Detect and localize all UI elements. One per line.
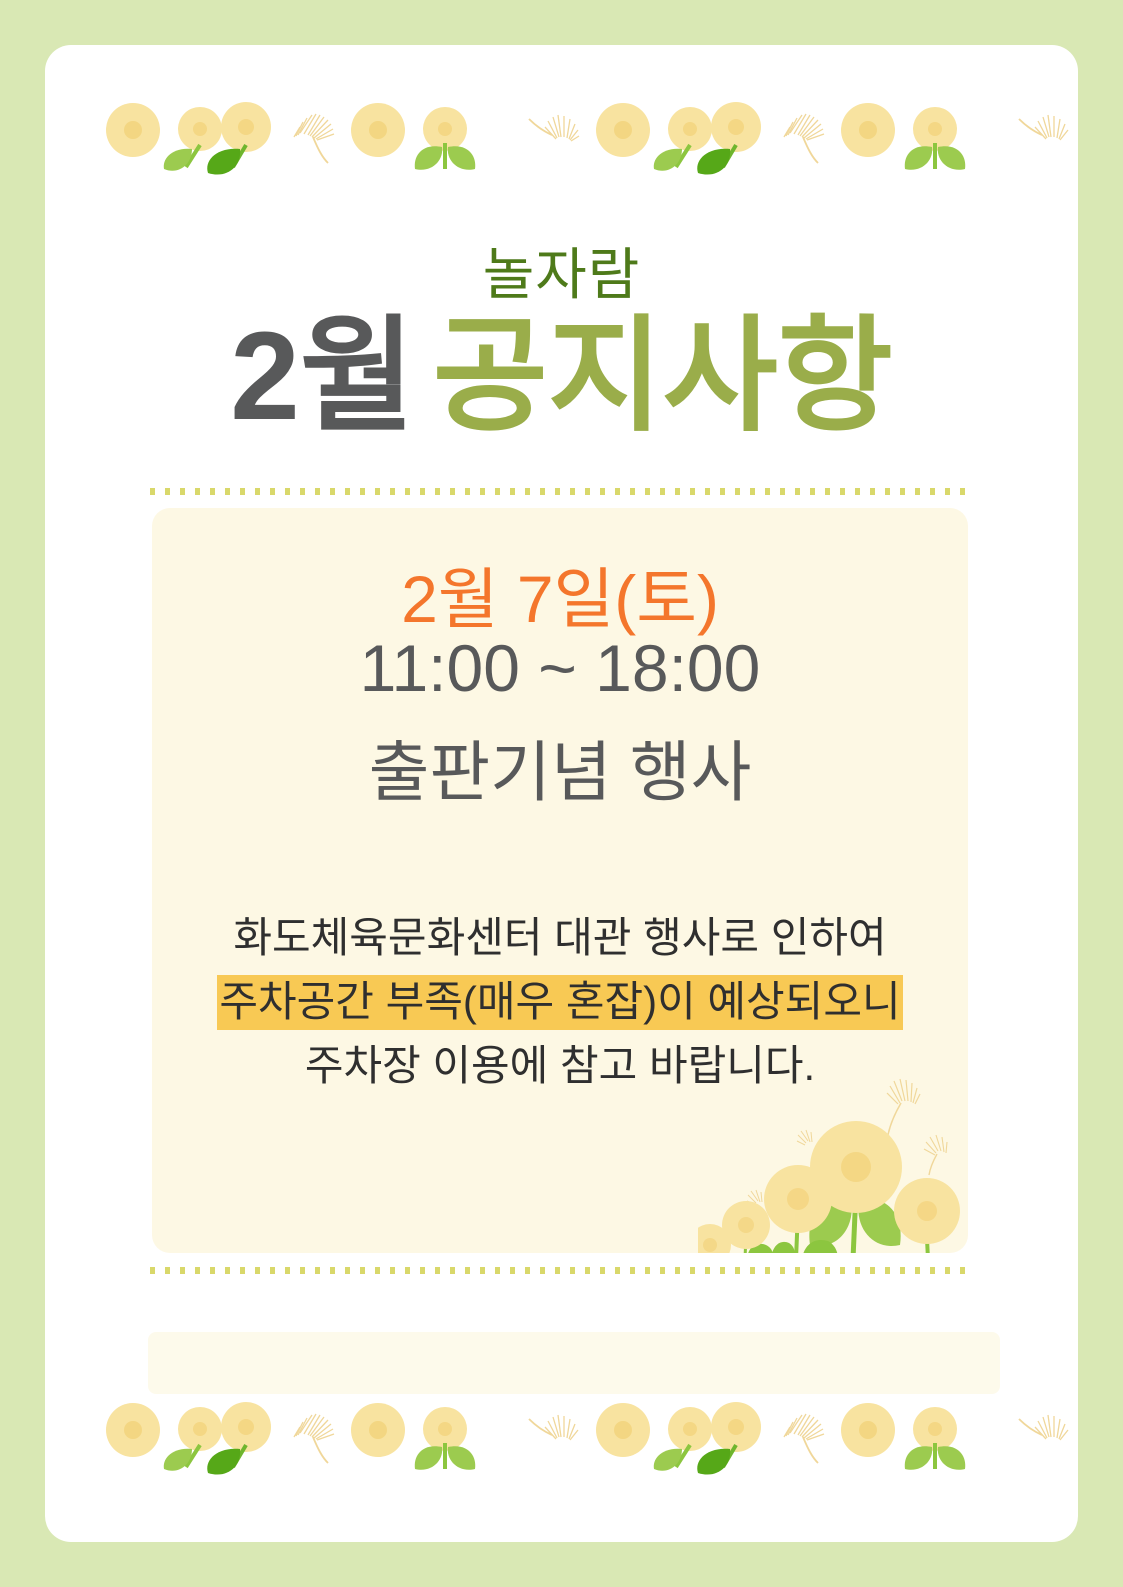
- event-time: 11:00 ~ 18:00: [152, 630, 968, 706]
- dandelion-border-unit-icon: [835, 1387, 1078, 1487]
- notice-highlight: 주차공간 부족(매우 혼잡)이 예상되오니: [217, 975, 902, 1030]
- divider-upper: [150, 488, 970, 495]
- title-notice: 공지사항: [433, 307, 893, 446]
- dandelion-border-unit-icon: [345, 1387, 590, 1487]
- poster-card: 놀자람 2월공지사항 2월 7일(토) 11:00 ~ 18:00 출판기념 행…: [45, 45, 1078, 1542]
- top-dandelion-border: [45, 87, 1078, 187]
- dandelion-border-unit-icon: [835, 87, 1078, 187]
- notice-body: 화도체육문화센터 대관 행사로 인하여 주차공간 부족(매우 혼잡)이 예상되오…: [152, 906, 968, 1097]
- notice-line-1: 화도체육문화센터 대관 행사로 인하여: [152, 906, 968, 970]
- dandelion-border-unit-icon: [345, 87, 590, 187]
- notice-line-3: 주차장 이용에 참고 바랍니다.: [152, 1034, 968, 1098]
- bottom-dandelion-border: [45, 1387, 1078, 1487]
- dandelion-border-unit-icon: [100, 87, 345, 187]
- content-panel: 2월 7일(토) 11:00 ~ 18:00 출판기념 행사 화도체육문화센터 …: [152, 508, 968, 1253]
- dandelion-border-unit-icon: [590, 1387, 835, 1487]
- footer-box: [148, 1332, 1000, 1394]
- page-title: 2월공지사항: [45, 305, 1078, 449]
- notice-line-2: 주차공간 부족(매우 혼잡)이 예상되오니: [152, 970, 968, 1034]
- dandelion-border-unit-icon: [100, 1387, 345, 1487]
- brand-name: 놀자람: [45, 230, 1078, 311]
- event-date: 2월 7일(토): [152, 546, 968, 642]
- dandelion-border-unit-icon: [590, 87, 835, 187]
- event-name: 출판기념 행사: [152, 719, 968, 815]
- divider-lower: [150, 1267, 970, 1274]
- title-month: 2월: [230, 307, 415, 446]
